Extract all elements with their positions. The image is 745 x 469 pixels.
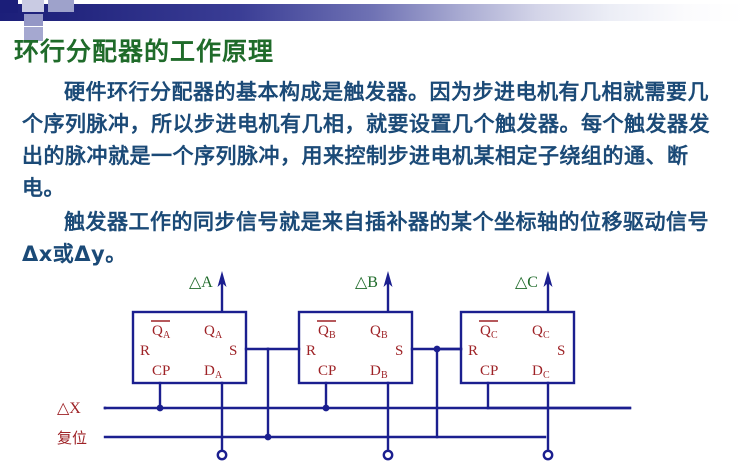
- flipflop-B-qbar-label: Q: [318, 323, 329, 339]
- output-label-B: △B: [355, 274, 378, 291]
- junction-cp-A: [157, 405, 164, 412]
- flipflop-B-d-label: D: [370, 363, 381, 379]
- paragraph-1: 硬件环行分配器的基本构成是触发器。因为步进电机有几相就需要几个序列脉冲，所以步进…: [22, 76, 722, 204]
- flipflop-A-d-label: D: [204, 363, 215, 379]
- flipflop-A-r-label: R: [140, 343, 150, 359]
- terminal-d-C: [544, 451, 552, 459]
- input-label-delta-x: △X: [57, 400, 81, 417]
- header-square-mid: [22, 0, 44, 12]
- output-arrow-A: [218, 271, 227, 312]
- flipflop-A-q-label: Q: [204, 323, 215, 339]
- ring-distributor-circuit-diagram: △A △B △C Q A Q A R S CP: [0, 265, 745, 469]
- flipflop-C-q-label: Q: [532, 323, 543, 339]
- flipflop-A-d-sub: A: [215, 370, 223, 381]
- flipflop-A-cp-label: CP: [152, 363, 170, 379]
- input-label-reset: 复位: [57, 429, 87, 447]
- wire-s-A-to-reset-bus: [246, 349, 268, 437]
- flipflop-C-d-label: D: [532, 363, 543, 379]
- flipflop-B: Q B Q B R S CP D B: [299, 312, 412, 383]
- paragraph-2: 触发器工作的同步信号就是来自插补器的某个坐标轴的位移驱动信号Δx或Δy。: [22, 206, 722, 270]
- header-square-lower-1: [24, 14, 43, 26]
- body-text-block: 硬件环行分配器的基本构成是触发器。因为步进电机有几相就需要几个序列脉冲，所以步进…: [22, 76, 722, 272]
- flipflop-A-qbar-label: Q: [152, 323, 163, 339]
- flipflop-B-q-label: Q: [370, 323, 381, 339]
- output-label-A: △A: [189, 274, 213, 291]
- flipflop-A: Q A Q A R S CP D A: [133, 312, 246, 383]
- slide-canvas: 环行分配器的工作原理 硬件环行分配器的基本构成是触发器。因为步进电机有几相就需要…: [0, 0, 745, 469]
- flipflop-C-qbar-label: Q: [480, 323, 491, 339]
- output-arrow-C: [544, 271, 553, 312]
- flipflop-C-q-sub: C: [543, 330, 550, 341]
- flipflop-C: Q C Q C R S CP D C: [461, 312, 574, 383]
- flipflop-A-qbar-sub: A: [163, 330, 171, 341]
- flipflop-A-s-label: S: [229, 343, 237, 359]
- flipflop-B-d-sub: B: [381, 370, 388, 381]
- header-gradient-band: [0, 4, 745, 21]
- flipflop-C-r-label: R: [468, 343, 478, 359]
- output-arrow-B: [384, 271, 393, 312]
- junction-s-A-reset: [265, 434, 272, 441]
- flipflop-B-q-sub: B: [381, 330, 388, 341]
- junction-cp-B: [323, 405, 330, 412]
- terminal-d-B: [384, 451, 392, 459]
- flipflop-B-qbar-sub: B: [329, 330, 336, 341]
- header-square-light: [48, 0, 74, 12]
- flipflop-C-d-sub: C: [543, 370, 550, 381]
- flipflop-C-s-label: S: [557, 343, 565, 359]
- wire-s-B-to-r-C: [412, 349, 461, 437]
- terminal-d-A: [218, 451, 226, 459]
- flipflop-B-s-label: S: [395, 343, 403, 359]
- flipflop-A-q-sub: A: [215, 330, 223, 341]
- flipflop-C-cp-label: CP: [480, 363, 498, 379]
- flipflop-B-r-label: R: [306, 343, 316, 359]
- flipflop-B-cp-label: CP: [318, 363, 336, 379]
- flipflop-C-qbar-sub: C: [491, 330, 498, 341]
- output-label-C: △C: [515, 274, 538, 291]
- header-square-dark: [0, 0, 18, 13]
- page-title: 环行分配器的工作原理: [14, 32, 274, 68]
